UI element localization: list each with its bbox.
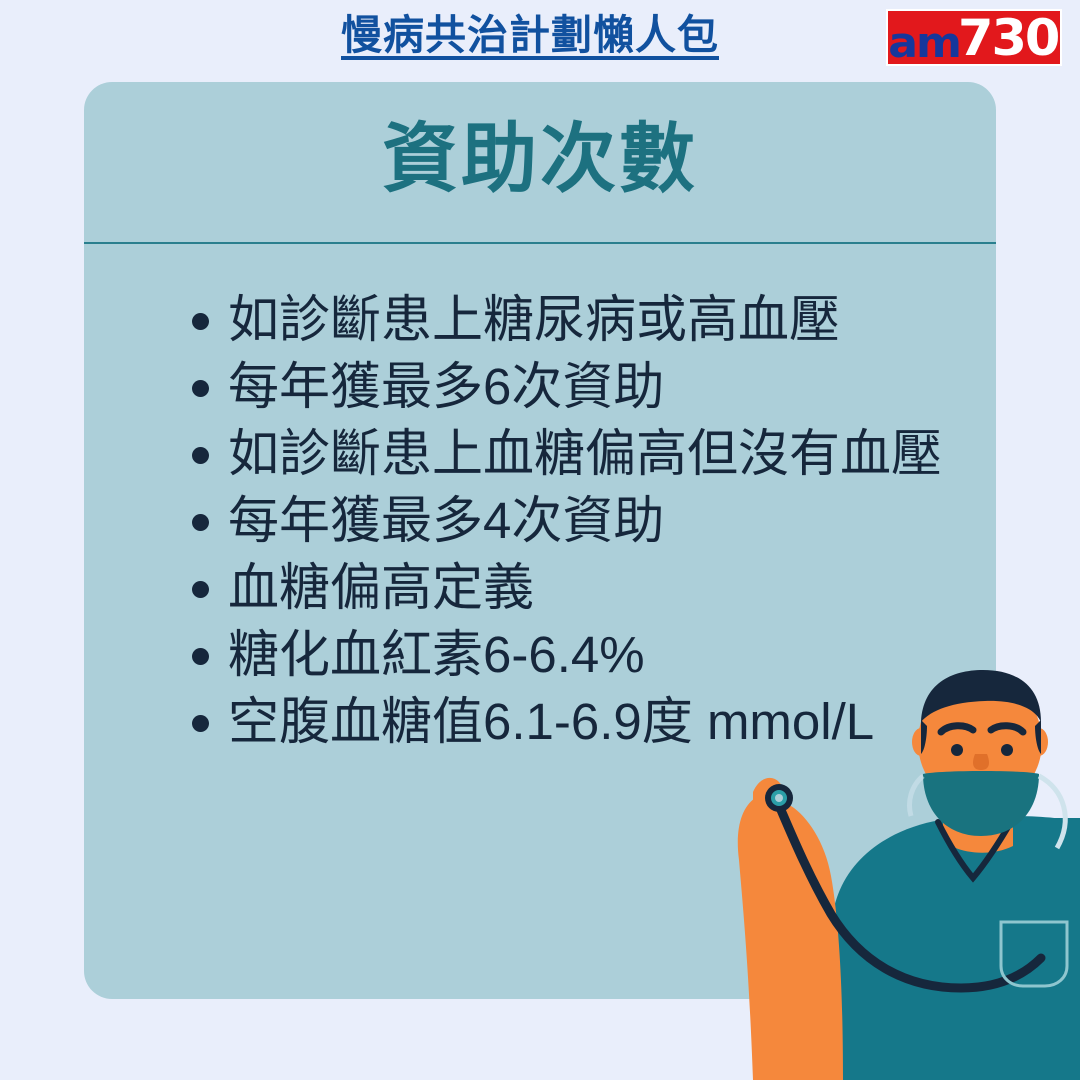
list-item: 如診斷患上血糖偏高但沒有血壓 (180, 421, 970, 487)
eye-right-icon (1001, 744, 1013, 756)
scrubs-pocket-icon (1001, 922, 1067, 986)
page-header: 慢病共治計劃懶人包 am730 (0, 0, 1080, 82)
mask-strap-right-icon (1039, 776, 1065, 848)
list-item: 空腹血糖值6.1-6.9度 mmol/L (180, 689, 970, 755)
content-card: 資助次數 如診斷患上糖尿病或高血壓 每年獲最多6次資助 如診斷患上血糖偏高但沒有… (84, 82, 996, 999)
am730-logo: am730 (886, 9, 1062, 66)
card-divider (84, 242, 996, 244)
list-item: 糖化血紅素6-6.4% (180, 622, 970, 688)
card-heading: 資助次數 (84, 120, 996, 200)
list-item: 每年獲最多6次資助 (180, 354, 970, 420)
list-item: 每年獲最多4次資助 (180, 488, 970, 554)
list-item: 血糖偏高定義 (180, 555, 970, 621)
logo-730-text: 730 (958, 13, 1058, 63)
scrubs-right-fill (1015, 818, 1080, 1080)
sideburn-right-icon (1035, 720, 1041, 754)
logo-am-text: am (889, 22, 961, 64)
list-item: 如診斷患上糖尿病或高血壓 (180, 287, 970, 353)
bullet-list: 如診斷患上糖尿病或高血壓 每年獲最多6次資助 如診斷患上血糖偏高但沒有血壓 每年… (180, 287, 970, 756)
ear-right-icon (1030, 728, 1048, 756)
